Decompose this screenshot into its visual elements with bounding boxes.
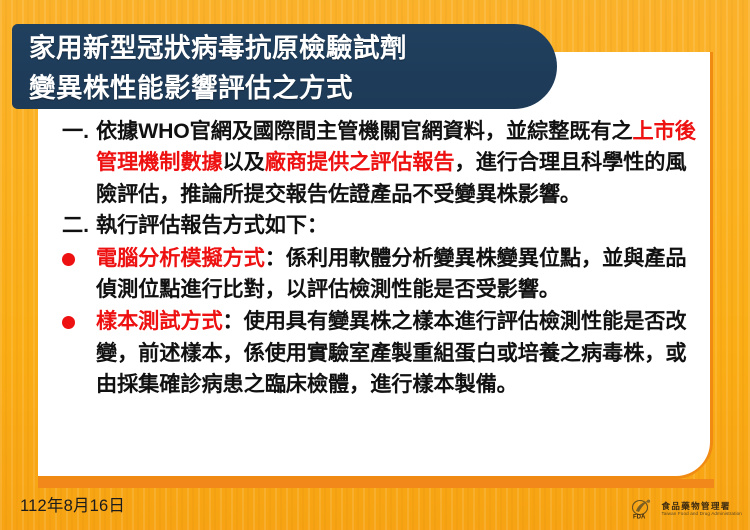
text-run: 電腦分析模擬方式 bbox=[96, 247, 265, 270]
text-run: 依據 bbox=[96, 120, 138, 143]
text-run: 以及 bbox=[223, 151, 265, 174]
title-line-1: 家用新型冠狀病毒抗原檢驗試劑 bbox=[29, 28, 557, 68]
footer-date: 112年8月16日 bbox=[20, 492, 125, 516]
bullet-item-1: 電腦分析模擬方式：係利用軟體分析變異株變異位點，並與產品偵測位點進行比對，以評估… bbox=[62, 243, 704, 306]
fda-logo-chinese: 食品藥物管理署 bbox=[661, 501, 742, 511]
fda-emblem-icon: FDA bbox=[631, 499, 657, 520]
text-run: 官網及國際間主管機關官網資料，並綜整既有之 bbox=[190, 120, 633, 143]
text-run: WHO bbox=[138, 120, 189, 143]
svg-text:FDA: FDA bbox=[633, 514, 646, 520]
text-run: 執行評估報告方式如下： bbox=[96, 214, 328, 237]
numbered-item-2: 二. 執行評估報告方式如下： bbox=[62, 210, 704, 241]
slide-canvas: 家用新型冠狀病毒抗原檢驗試劑 變異株性能影響評估之方式 一. 依據WHO官網及國… bbox=[0, 0, 750, 530]
bullet-dot-icon-2 bbox=[62, 306, 96, 329]
bullet-dot-icon-1 bbox=[62, 243, 96, 266]
slide-body: 一. 依據WHO官網及國際間主管機關官網資料，並綜整既有之上市後管理機制數據以及… bbox=[38, 116, 710, 401]
fda-logo-english: Taiwan Food and Drug Administration bbox=[661, 511, 742, 517]
numbered-item-2-marker: 二. bbox=[62, 210, 96, 241]
numbered-item-2-text: 執行評估報告方式如下： bbox=[96, 210, 704, 241]
fda-logo: FDA 食品藥物管理署 Taiwan Food and Drug Adminis… bbox=[631, 497, 742, 521]
orange-divider-bar bbox=[38, 479, 714, 488]
fda-logo-text: 食品藥物管理署 Taiwan Food and Drug Administrat… bbox=[661, 501, 742, 517]
bullet-item-2: 樣本測試方式：使用具有變異株之樣本進行評估檢測性能是否改變，前述樣本，係使用實驗… bbox=[62, 306, 704, 400]
numbered-item-1-text: 依據WHO官網及國際間主管機關官網資料，並綜整既有之上市後管理機制數據以及廠商提… bbox=[96, 116, 704, 210]
numbered-item-1: 一. 依據WHO官網及國際間主管機關官網資料，並綜整既有之上市後管理機制數據以及… bbox=[62, 116, 704, 210]
fda-logo-icon: FDA bbox=[631, 499, 657, 520]
title-line-2: 變異株性能影響評估之方式 bbox=[29, 68, 557, 108]
slide-title-block: 家用新型冠狀病毒抗原檢驗試劑 變異株性能影響評估之方式 bbox=[12, 24, 557, 109]
text-run: 樣本測試方式 bbox=[96, 310, 223, 333]
bullet-item-2-text: 樣本測試方式：使用具有變異株之樣本進行評估檢測性能是否改變，前述樣本，係使用實驗… bbox=[96, 306, 704, 400]
bullet-item-1-text: 電腦分析模擬方式：係利用軟體分析變異株變異位點，並與產品偵測位點進行比對，以評估… bbox=[96, 243, 704, 306]
numbered-item-1-marker: 一. bbox=[62, 116, 96, 147]
text-run: 廠商提供之評估報告 bbox=[265, 151, 455, 174]
